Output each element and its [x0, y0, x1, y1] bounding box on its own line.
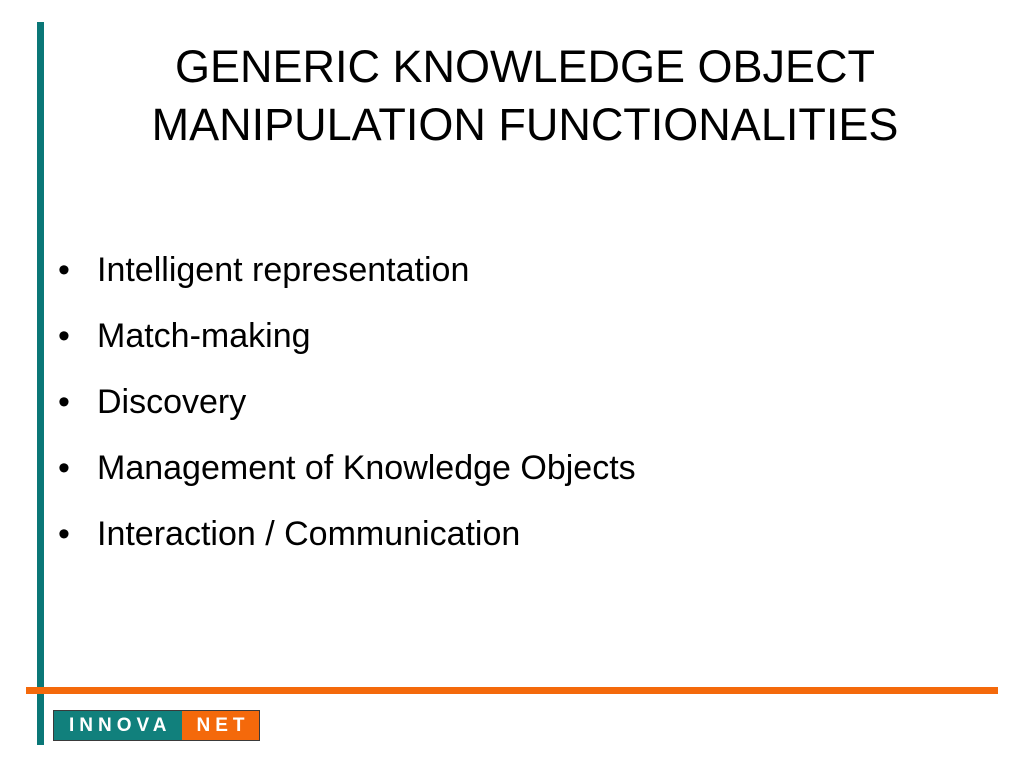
bullet-point-icon: •: [58, 380, 97, 424]
page-title-line-2: MANIPULATION FUNCTIONALITIES: [60, 96, 990, 154]
page-title-line-1: GENERIC KNOWLEDGE OBJECT: [60, 38, 990, 96]
bullet-point-icon: •: [58, 512, 97, 556]
presentation-slide: GENERIC KNOWLEDGE OBJECT MANIPULATION FU…: [0, 0, 1024, 768]
logo-text-net: NET: [182, 711, 259, 740]
bullet-list: • Intelligent representation • Match-mak…: [58, 248, 636, 578]
list-item-label: Interaction / Communication: [97, 512, 520, 556]
list-item: • Management of Knowledge Objects: [58, 446, 636, 512]
list-item: • Match-making: [58, 314, 636, 380]
bullet-point-icon: •: [58, 314, 97, 358]
horizontal-accent-rule: [26, 687, 998, 694]
list-item: • Intelligent representation: [58, 248, 636, 314]
list-item-label: Discovery: [97, 380, 246, 424]
bullet-point-icon: •: [58, 248, 97, 292]
logo-text-innova: INNOVA: [54, 711, 182, 740]
list-item-label: Management of Knowledge Objects: [97, 446, 636, 490]
bullet-point-icon: •: [58, 446, 97, 490]
list-item-label: Match-making: [97, 314, 311, 358]
innovanet-logo: INNOVA NET: [53, 710, 260, 741]
vertical-accent-bar: [37, 22, 44, 745]
list-item: • Interaction / Communication: [58, 512, 636, 578]
page-title: GENERIC KNOWLEDGE OBJECT MANIPULATION FU…: [60, 38, 990, 154]
list-item-label: Intelligent representation: [97, 248, 469, 292]
list-item: • Discovery: [58, 380, 636, 446]
